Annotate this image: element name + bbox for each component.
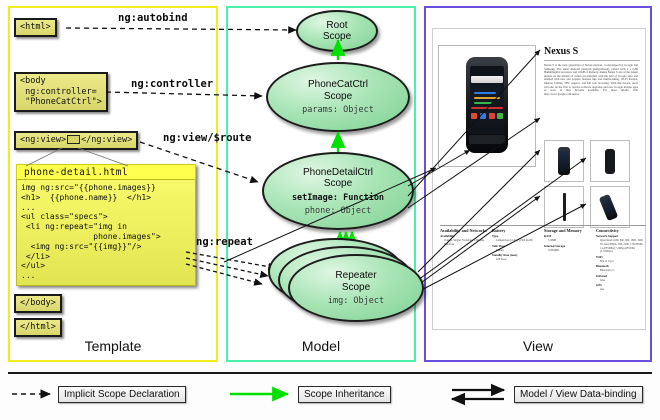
thumbnail-3[interactable] (544, 186, 584, 228)
label-ng-autobind: ng:autobind (118, 12, 188, 24)
phone-detail-note: img ng:src="{{phone.images}} <h1> {{phon… (16, 164, 196, 286)
scope-detailctrl-prop-phone: phone: Object (305, 206, 372, 216)
scope-detailctrl-prop-setimage: setImage: Function (292, 193, 384, 203)
code-body-open: <body ng:controller= "PhoneCatCtrl"> (14, 72, 108, 112)
ngview-open-tag: <ng:view> (20, 135, 66, 145)
spec-column-storage: Storage and Memory RAM 512MB Internal St… (544, 228, 592, 252)
thumbnail-1[interactable] (544, 140, 584, 182)
column-label-view: View (424, 338, 652, 354)
note-code: img ng:src="{{phone.images}} <h1> {{phon… (16, 179, 196, 286)
specs-table: Availability and Networks Availability O… (440, 228, 646, 314)
scope-repeater-prop-img: img: Object (328, 296, 384, 306)
scope-root-line2: Scope (323, 31, 351, 42)
spec-value-internal: 16384MB (544, 249, 592, 253)
thumb3-phone-icon (563, 193, 566, 221)
ngview-close-tag: </ng:view> (81, 135, 132, 145)
hero-line-red (471, 107, 503, 109)
scope-catctrl-line1: PhoneCatCtrl (308, 79, 368, 90)
spec-column-availability: Availability and Networks Availability O… (440, 228, 488, 247)
legend-label-implicit: Implicit Scope Declaration (58, 386, 186, 403)
view-title-rule (544, 60, 640, 61)
phone-hero-searchbar (471, 76, 503, 83)
legend-label-databinding: Model / View Data-binding (514, 386, 643, 403)
label-ng-view-route: ng:view/$route (163, 132, 252, 144)
spec-value-network: Quad-band GSM: 850, 900, 1800, 1900 Tri-… (596, 239, 644, 253)
spec-column-connectivity: Connectivity Network Support Quad-band G… (596, 228, 644, 292)
hero-line-orange (474, 97, 500, 99)
spec-value-infrared: false (596, 279, 644, 283)
thumb1-screen (560, 151, 568, 169)
spec-value-battery-standby: 428 hours (492, 258, 540, 262)
spec-header-connectivity: Connectivity (596, 228, 644, 233)
code-ngview: <ng:view></ng:view> (14, 131, 138, 150)
spec-header-availability: Availability and Networks (440, 228, 488, 233)
thumb2-phone-icon (605, 149, 615, 174)
scope-repeater: Repeater Scope img: Object (288, 254, 424, 322)
spec-header-storage: Storage and Memory (544, 228, 592, 233)
hero-app-icon-2 (480, 113, 486, 119)
view-description: Nexus S is the next generation of Nexus … (544, 64, 638, 120)
code-html-close: </html> (14, 318, 62, 337)
view-page-title: Nexus S (544, 46, 640, 57)
specs-rule (440, 225, 646, 226)
scope-detailctrl-line2: Scope (324, 178, 352, 189)
label-ng-repeat: ng:repeat (196, 236, 253, 248)
thumbnail-4[interactable] (590, 186, 630, 228)
label-ng-controller: ng:controller (131, 78, 213, 90)
scope-detailctrl-line1: PhoneDetailCtrl (303, 167, 373, 178)
note-title: phone-detail.html (24, 166, 174, 179)
spec-value-wifi: 802.11 b/g/n (596, 260, 644, 264)
spec-value-ram: 512MB (544, 239, 592, 243)
legend-label-inheritance: Scope Inheritance (298, 386, 391, 403)
hero-line-green (474, 102, 492, 104)
code-body-close: </body> (14, 294, 62, 313)
scope-catctrl-prop-params: params: Object (302, 105, 374, 115)
scope-repeater-line1: Repeater (335, 270, 376, 281)
scope-phonedetailctrl: PhoneDetailCtrl Scope setImage: Function… (262, 152, 414, 230)
code-html-open: <html> (14, 18, 57, 37)
hero-app-icon-1 (471, 113, 477, 119)
hero-app-icon-3 (489, 113, 495, 119)
phone-hero-icon-row (471, 112, 503, 121)
spec-value-availability: Orange, Singtel, Vodafone, T-Mobile, Vod… (440, 239, 488, 246)
spec-header-battery: Battery (492, 228, 540, 233)
column-label-template: Template (8, 338, 218, 354)
spec-column-battery: Battery Type Lithium Ion (Li-Ion) (1500 … (492, 228, 540, 262)
hero-app-icon-4 (497, 113, 503, 119)
scope-phonecatctrl: PhoneCatCtrl Scope params: Object (266, 62, 410, 132)
scope-root-line1: Root (326, 20, 347, 31)
spec-value-gps: true (596, 288, 644, 292)
scope-root: Root Scope (296, 10, 378, 52)
diagram-canvas: <html> <body ng:controller= "PhoneCatCtr… (0, 0, 660, 420)
ngview-placeholder-icon (67, 135, 80, 144)
scope-repeater-line2: Scope (342, 282, 370, 293)
phone-hero-tray (469, 135, 505, 144)
hero-line-blue (474, 92, 496, 94)
thumbnail-2[interactable] (590, 140, 630, 182)
spec-value-bluetooth: Bluetooth 2.1 (596, 269, 644, 273)
spec-value-battery-type: Lithium Ion (Li-Ion) (1500 mAH) (492, 239, 540, 243)
spec-value-battery-talk: 6 hours (492, 249, 540, 253)
column-label-model: Model (226, 338, 416, 354)
scope-catctrl-line2: Scope (324, 91, 352, 102)
legend-divider (8, 372, 652, 374)
